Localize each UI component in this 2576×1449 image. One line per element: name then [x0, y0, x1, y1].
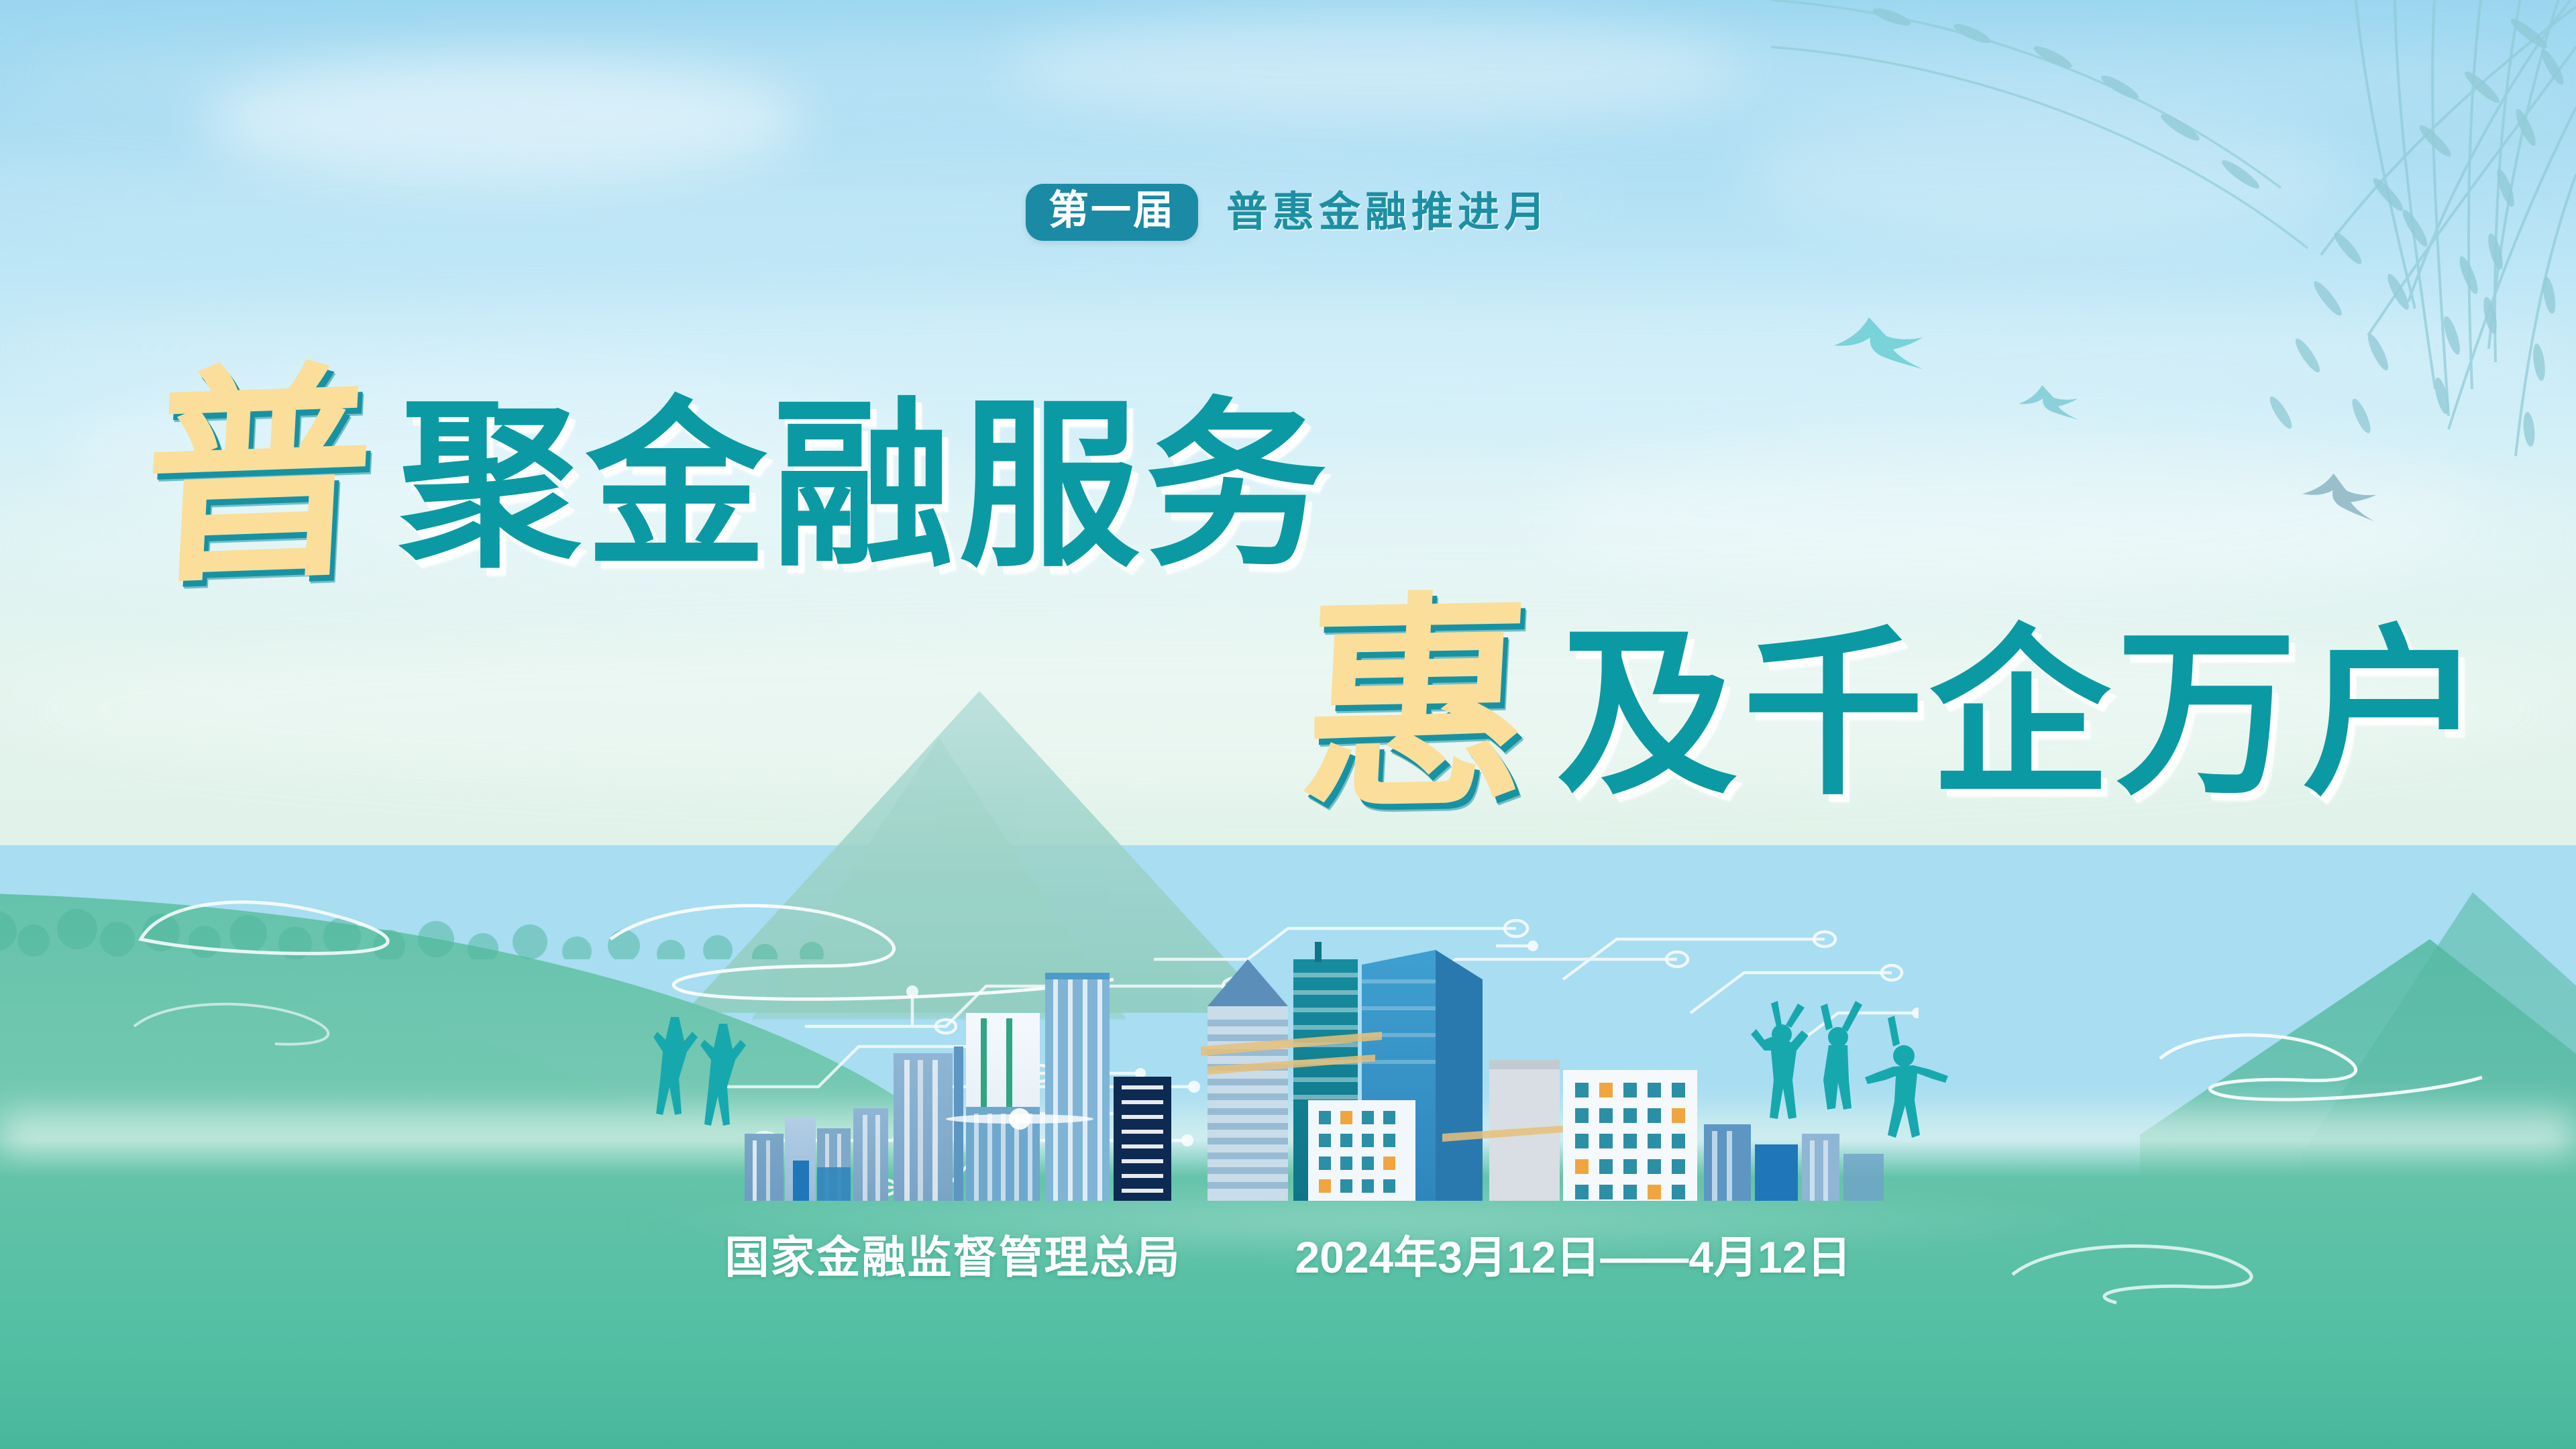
- header-bar: 第一届 普惠金融推进月: [0, 184, 2576, 241]
- poster-canvas: 第一届 普惠金融推进月 普 聚金融服务 惠 及千企万户 国家金融监督管理总局 2…: [0, 0, 2576, 1449]
- cloud-puff: [67, 376, 939, 523]
- city-skyline-icon: [738, 932, 1892, 1201]
- swallow-bird-icon: [2277, 463, 2378, 530]
- jumping-people-silhouette-icon: [1744, 986, 1966, 1161]
- organization-name: 国家金融监督管理总局: [724, 1233, 1181, 1282]
- campaign-title: 普惠金融推进月: [1226, 191, 1550, 234]
- swallow-bird-icon: [1999, 376, 2080, 432]
- edition-badge[interactable]: 第一届: [1026, 184, 1198, 241]
- date-range: 2024年3月12日——4月12日: [1295, 1233, 1851, 1282]
- cloud-band: [0, 624, 2576, 798]
- jumping-people-silhouette-icon: [631, 1013, 785, 1161]
- cloud-puff: [201, 60, 805, 181]
- footer-bar: 国家金融监督管理总局 2024年3月12日——4月12日: [0, 1233, 2576, 1282]
- willow-branch-icon: [1771, 0, 2576, 496]
- swallow-bird-icon: [1805, 305, 1925, 386]
- cloud-puff: [1006, 13, 1744, 121]
